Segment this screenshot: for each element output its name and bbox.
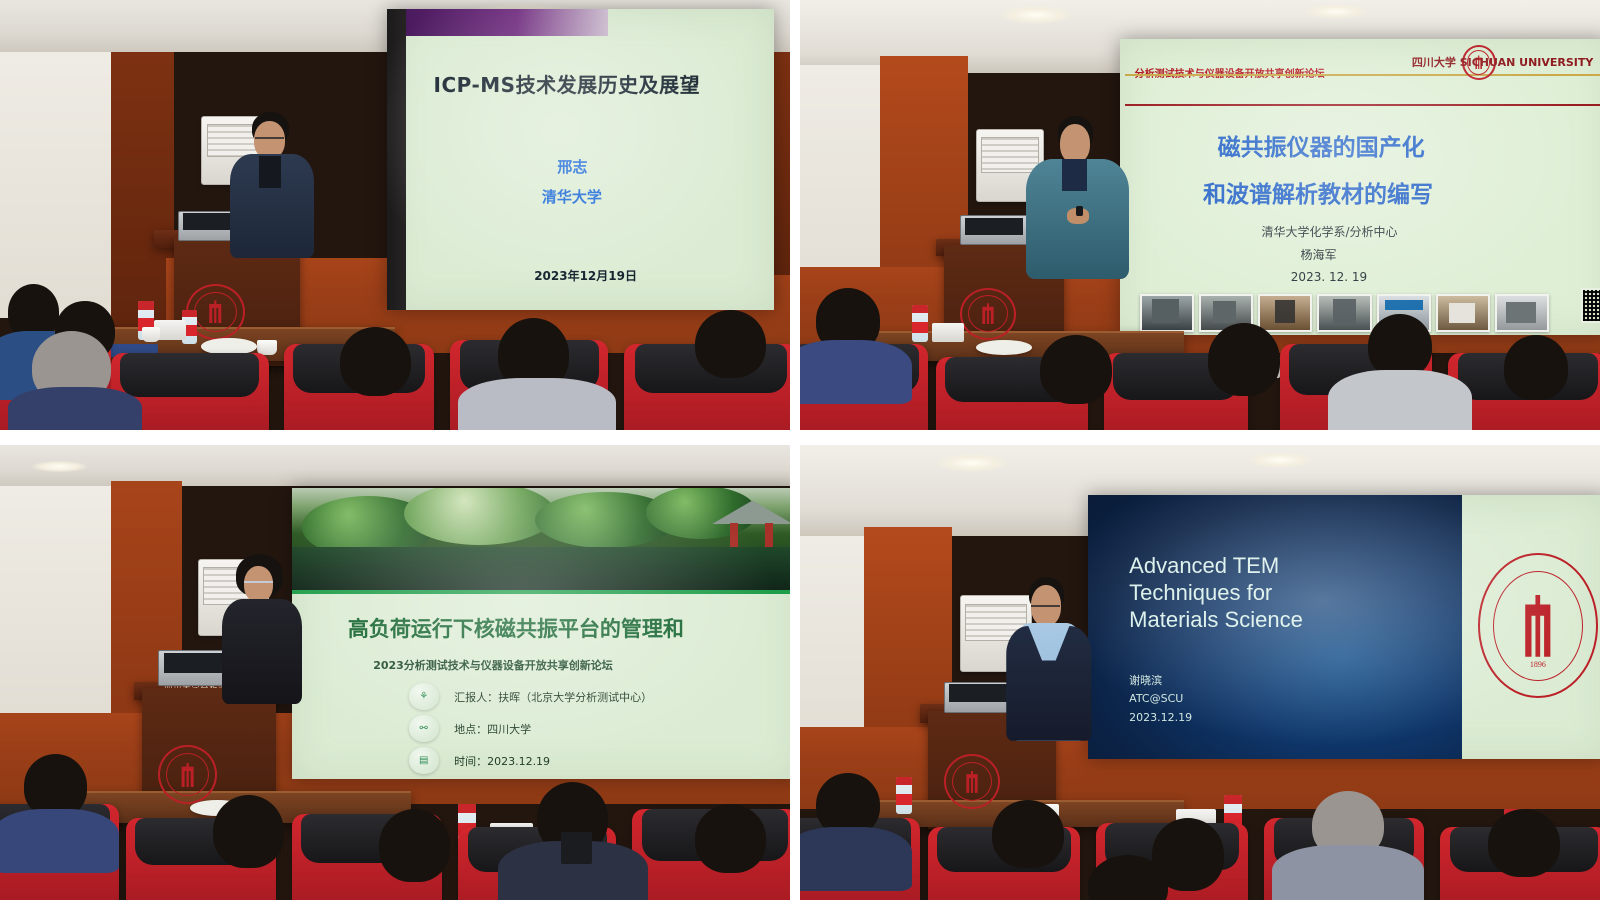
seal-mark [1518, 595, 1557, 657]
slide1-presenter: 邢志 [557, 156, 587, 177]
scu-emblem-podium-4 [944, 754, 1000, 809]
audience-body [0, 809, 119, 873]
bottle-cap [458, 804, 476, 813]
audience-head [1208, 323, 1280, 396]
bottle-label [912, 322, 928, 334]
panel-1-photo: ICP-MS技术发展历史及展望 邢志 清华大学 2023年12月19日 四川大学… [0, 0, 790, 430]
slide4-title: Advanced TEM Techniques for Materials Sc… [1129, 553, 1303, 633]
photo-collage-grid: ICP-MS技术发展历史及展望 邢志 清华大学 2023年12月19日 四川大学… [0, 0, 1600, 900]
slide2-thumbnail-strip [1140, 294, 1550, 333]
ceiling-light-icon [1000, 6, 1072, 23]
qr-code [1581, 288, 1600, 324]
speaker-head [254, 121, 285, 159]
slide1-title: ICP-MS技术发展历史及展望 [434, 69, 701, 98]
slide3-subtitle: 2023分析测试技术与仪器设备开放共享创新论坛 [373, 657, 613, 673]
laptop-2 [960, 215, 1028, 245]
audience-head [340, 327, 411, 396]
speaker-torso [222, 599, 302, 704]
header-rule-red [1125, 104, 1600, 106]
audience-body [800, 827, 912, 891]
slide2-affiliation: 清华大学化学系/分析中心 [1262, 223, 1398, 240]
seal-mark [178, 763, 197, 787]
instrument-thumbnail [1495, 294, 1549, 333]
seal-mark [206, 300, 225, 323]
pond-water [292, 547, 790, 590]
audience-head [695, 310, 766, 379]
pavilion-roof [712, 500, 790, 524]
slide3-bullet-text: 时间：2023.12.19 [454, 753, 550, 769]
instrument-thumbnail [1258, 294, 1312, 333]
projection-screen-4: Advanced TEM Techniques for Materials Sc… [1088, 495, 1600, 759]
lecture-room-1: ICP-MS技术发展历史及展望 邢志 清华大学 2023年12月19日 四川大学… [0, 0, 790, 430]
bottle-cap [182, 310, 198, 318]
scu-emblem-podium-2 [960, 288, 1016, 340]
wall-wood-column [111, 52, 174, 336]
seal-year: 1896 [1480, 660, 1596, 669]
tissue-box [932, 323, 964, 342]
people-icon: ⚘ [409, 683, 439, 709]
audience-head [1368, 314, 1432, 379]
instrument-thumbnail [1436, 294, 1490, 333]
audience-head [213, 795, 284, 868]
bottle-cap [912, 305, 928, 313]
slide4-date: 2023.12.19 [1129, 709, 1192, 726]
projection-screen-2: 分析测试技术与仪器设备开放共享创新论坛 四川大学 SICHUAN UNIVERS… [1120, 39, 1600, 336]
slide4-presenter: 谢晓滨 [1129, 672, 1162, 689]
bottle-cap [896, 777, 912, 785]
bottle-cap [1224, 795, 1242, 804]
location-icon: ⚯ [409, 715, 439, 741]
paper-cup [142, 327, 159, 342]
water-bottle [912, 305, 928, 342]
slide4-affiliation: ATC@SCU [1129, 690, 1183, 707]
screen-dark-edge [387, 9, 406, 310]
panel-4-photo: Advanced TEM Techniques for Materials Sc… [800, 445, 1600, 900]
ceiling-light-icon [1248, 452, 1312, 468]
audience-head [1504, 335, 1568, 400]
lecture-room-4: Advanced TEM Techniques for Materials Sc… [800, 445, 1600, 900]
panel-3-photo: 高负荷运行下核磁共振平台的管理和 2023分析测试技术与仪器设备开放共享创新论坛… [0, 445, 790, 900]
speaker-shirt [259, 156, 281, 188]
calendar-icon: ▤ [409, 747, 439, 773]
slide3-banner-photo [292, 488, 790, 590]
glasses-icon [244, 581, 273, 583]
audience-body [8, 387, 142, 430]
slide2-presenter: 杨海军 [1301, 246, 1337, 263]
audience-head [992, 800, 1064, 868]
slide3-accent-rule [292, 590, 790, 594]
instrument-thumbnail [1140, 294, 1194, 333]
seal-mark [963, 771, 981, 793]
audience-body [458, 378, 616, 430]
slide4-dark-canvas: Advanced TEM Techniques for Materials Sc… [1088, 495, 1462, 759]
glasses-icon [1031, 605, 1060, 607]
slide2-forum-banner: 分析测试技术与仪器设备开放共享创新论坛 [1135, 65, 1325, 80]
presenter-clicker-icon [1076, 206, 1084, 216]
audience-head [695, 804, 766, 872]
speaker-3 [213, 554, 316, 704]
slide3-title: 高负荷运行下核磁共振平台的管理和 [348, 613, 684, 643]
speaker-head [244, 566, 273, 602]
seat-headrest [120, 353, 259, 398]
audience-body [1272, 845, 1424, 900]
glasses-icon [255, 137, 284, 139]
slide2-date: 2023. 12. 19 [1291, 270, 1367, 284]
snack-plate [976, 340, 1032, 355]
speaker-shirt [1062, 159, 1087, 192]
slide1-date: 2023年12月19日 [534, 267, 637, 284]
slide2-title-line1: 磁共振仪器的国产化 [1218, 128, 1425, 162]
scu-logo-text: 四川大学 SICHUAN UNIVERSITY [1412, 54, 1593, 70]
speaker-head [1060, 124, 1090, 163]
slide1-affiliation: 清华大学 [542, 186, 602, 207]
slide3-bullet-text: 地点：四川大学 [454, 721, 531, 737]
slide2-title-line2: 和波谱解析教材的编写 [1203, 175, 1433, 209]
panel-2-photo: 分析测试技术与仪器设备开放共享创新论坛 四川大学 SICHUAN UNIVERS… [800, 0, 1600, 430]
projection-screen-1: ICP-MS技术发展历史及展望 邢志 清华大学 2023年12月19日 [387, 9, 774, 310]
lecture-room-2: 分析测试技术与仪器设备开放共享创新论坛 四川大学 SICHUAN UNIVERS… [800, 0, 1600, 430]
instrument-thumbnail [1317, 294, 1371, 333]
screen-purple-band [406, 9, 607, 36]
slide3-bullet-text: 汇报人：扶晖（北京大学分析测试中心） [454, 689, 652, 705]
audience-head [1040, 335, 1112, 404]
scu-seal-slide4: 1896 [1478, 553, 1598, 698]
ceiling [0, 445, 790, 486]
audience-body [800, 340, 912, 405]
speaker-4 [1000, 577, 1104, 741]
laptop-screen [965, 218, 1023, 235]
audience-head [1488, 809, 1560, 877]
seal-mark [979, 303, 997, 324]
header-rule-gold [1125, 74, 1600, 76]
bottle-label [896, 794, 912, 806]
lecture-room-3: 高负荷运行下核磁共振平台的管理和 2023分析测试技术与仪器设备开放共享创新论坛… [0, 445, 790, 900]
projection-screen-3: 高负荷运行下核磁共振平台的管理和 2023分析测试技术与仪器设备开放共享创新论坛… [292, 488, 790, 779]
speaker-2 [1024, 116, 1136, 279]
smartphone-icon [561, 832, 593, 864]
audience-head [379, 809, 450, 882]
bottle-cap [138, 301, 154, 310]
audience-body [1328, 370, 1472, 430]
speaker-1 [221, 112, 332, 258]
water-bottle [896, 777, 912, 813]
